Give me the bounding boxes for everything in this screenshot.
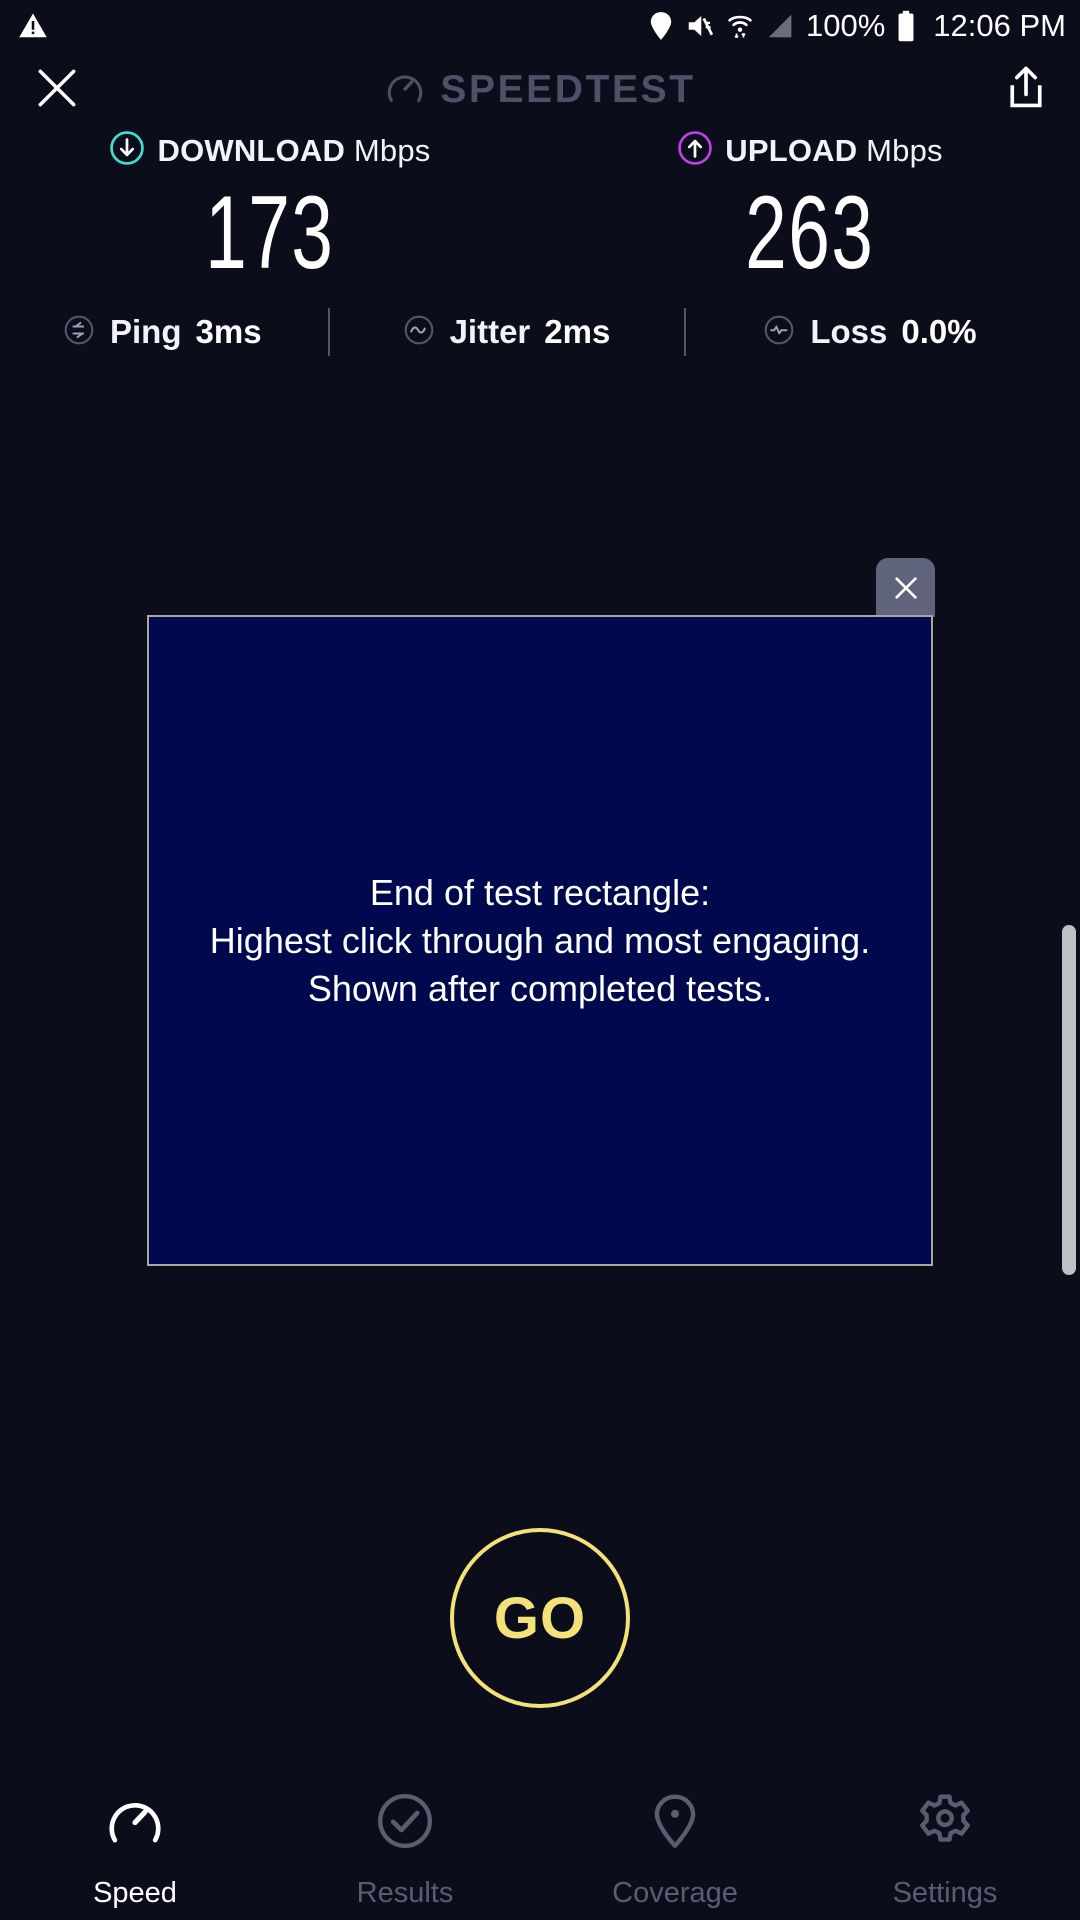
jitter-icon bbox=[402, 313, 436, 352]
ping-value: 3ms bbox=[196, 313, 262, 351]
metric-ping: Ping 3ms bbox=[62, 313, 262, 352]
network-metrics-row: Ping 3ms Jitter 2ms Loss 0.0% bbox=[0, 300, 1080, 364]
battery-percent-text: 100% bbox=[806, 8, 885, 44]
upload-result: UPLOAD Mbps 263 bbox=[540, 130, 1080, 283]
nav-label-coverage: Coverage bbox=[612, 1877, 738, 1910]
metric-loss: Loss 0.0% bbox=[762, 313, 976, 352]
mute-icon bbox=[685, 11, 715, 41]
speedometer-icon bbox=[104, 1790, 166, 1857]
jitter-label: Jitter bbox=[450, 313, 531, 351]
vertical-scrollbar[interactable] bbox=[1062, 925, 1076, 1275]
clock-text: 12:06 PM bbox=[933, 8, 1066, 44]
share-button[interactable] bbox=[1004, 64, 1048, 117]
ad-line-1: End of test rectangle: bbox=[210, 869, 870, 917]
upload-value: 263 bbox=[745, 183, 874, 283]
nav-label-speed: Speed bbox=[93, 1877, 177, 1910]
close-icon bbox=[890, 572, 922, 604]
warning-triangle-icon bbox=[18, 11, 48, 41]
metric-divider bbox=[684, 308, 686, 356]
download-arrow-circle-icon bbox=[109, 130, 145, 171]
nav-item-coverage[interactable]: Coverage bbox=[540, 1780, 810, 1920]
ad-text: End of test rectangle: Highest click thr… bbox=[192, 869, 888, 1013]
status-bar-right: 100% 12:06 PM bbox=[648, 8, 1066, 44]
advertisement-banner[interactable]: End of test rectangle: Highest click thr… bbox=[147, 615, 933, 1266]
loss-label: Loss bbox=[810, 313, 887, 351]
signal-bars-icon bbox=[765, 11, 795, 41]
nav-item-results[interactable]: Results bbox=[270, 1780, 540, 1920]
download-label: DOWNLOAD Mbps bbox=[157, 133, 430, 169]
speedometer-icon bbox=[384, 67, 426, 114]
ping-label: Ping bbox=[110, 313, 182, 351]
download-result: DOWNLOAD Mbps 173 bbox=[0, 130, 540, 283]
status-bar: 100% 12:06 PM bbox=[0, 0, 1080, 52]
check-circle-icon bbox=[374, 1790, 436, 1857]
results-summary: DOWNLOAD Mbps 173 UPLOAD Mbps bbox=[0, 130, 1080, 283]
metric-jitter: Jitter 2ms bbox=[402, 313, 611, 352]
close-icon bbox=[32, 63, 82, 113]
nav-label-results: Results bbox=[357, 1877, 454, 1910]
battery-full-icon bbox=[896, 10, 916, 42]
go-button-label: GO bbox=[494, 1585, 586, 1652]
loss-icon bbox=[762, 313, 796, 352]
ad-line-2: Highest click through and most engaging. bbox=[210, 917, 870, 965]
metric-divider bbox=[328, 308, 330, 356]
share-icon bbox=[1004, 64, 1048, 112]
advertisement-container: End of test rectangle: Highest click thr… bbox=[147, 615, 933, 1266]
bottom-navigation-bar: Speed Results Coverage bbox=[0, 1780, 1080, 1920]
app-title-group: SPEEDTEST bbox=[0, 52, 1080, 128]
upload-label: UPLOAD Mbps bbox=[725, 133, 943, 169]
nav-item-speed[interactable]: Speed bbox=[0, 1780, 270, 1920]
ping-icon bbox=[62, 313, 96, 352]
app-header: SPEEDTEST bbox=[0, 52, 1080, 128]
status-bar-left bbox=[18, 11, 48, 41]
go-button[interactable]: GO bbox=[450, 1528, 630, 1708]
nav-label-settings: Settings bbox=[893, 1877, 998, 1910]
ad-line-3: Shown after completed tests. bbox=[210, 965, 870, 1013]
ad-close-button[interactable] bbox=[876, 558, 935, 617]
page-title: SPEEDTEST bbox=[440, 68, 695, 112]
close-button[interactable] bbox=[32, 63, 82, 118]
loss-value: 0.0% bbox=[901, 313, 976, 351]
gear-icon bbox=[914, 1790, 976, 1857]
speedtest-app-screen: 100% 12:06 PM SPEEDTEST bbox=[0, 0, 1080, 1920]
location-pin-icon bbox=[648, 11, 674, 41]
download-value: 173 bbox=[205, 183, 334, 283]
upload-arrow-circle-icon bbox=[677, 130, 713, 171]
jitter-value: 2ms bbox=[544, 313, 610, 351]
wifi-icon bbox=[726, 11, 754, 41]
nav-item-settings[interactable]: Settings bbox=[810, 1780, 1080, 1920]
map-pin-icon bbox=[644, 1790, 706, 1857]
